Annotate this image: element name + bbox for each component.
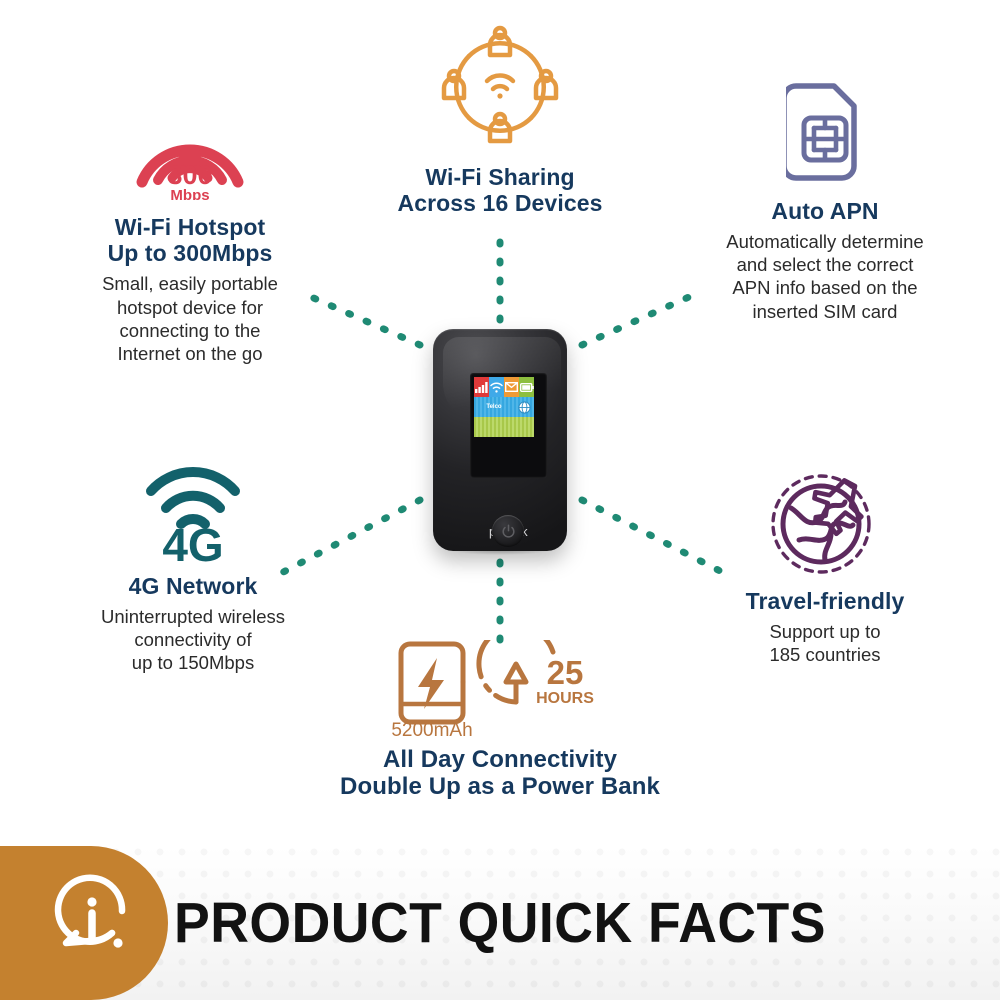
person-right bbox=[536, 71, 556, 98]
screen-info-row: Telco bbox=[474, 397, 534, 417]
hours-unit: HOURS bbox=[536, 690, 594, 707]
globe-tile bbox=[514, 397, 534, 417]
feature-desc-line2: hotspot device for bbox=[60, 296, 320, 319]
users-around-wifi-icon bbox=[435, 22, 565, 152]
footer-title: PRODUCT QUICK FACTS bbox=[30, 846, 970, 1000]
feature-wifi-sharing: Wi-Fi Sharing Across 16 Devices bbox=[370, 22, 630, 216]
feature-title-line1: Wi-Fi Hotspot bbox=[60, 214, 320, 240]
sim-card-icon bbox=[786, 82, 864, 186]
signal-bars-tile bbox=[474, 377, 489, 397]
feature-wifi-hotspot: 300 Mbps Wi-Fi Hotspot Up to 300Mbps Sma… bbox=[60, 92, 320, 365]
power-icon bbox=[501, 524, 516, 539]
feature-desc-line3: up to 150Mbps bbox=[58, 651, 328, 674]
person-bottom bbox=[490, 114, 510, 141]
feature-auto-apn: Auto APN Automatically determine and sel… bbox=[690, 82, 960, 323]
feature-travel-friendly: Travel-friendly Support up to 185 countr… bbox=[690, 468, 960, 666]
footer-badge bbox=[0, 846, 168, 1000]
wifi-tile bbox=[489, 377, 504, 397]
feature-desc-line1: Uninterrupted wireless bbox=[58, 605, 328, 628]
feature-title-line2: Double Up as a Power Bank bbox=[300, 773, 700, 800]
hours-value: 25 bbox=[547, 654, 584, 691]
feature-desc-line1: Automatically determine bbox=[690, 230, 960, 253]
envelope-icon bbox=[505, 382, 518, 392]
info-speech-bubble-icon bbox=[38, 869, 146, 977]
telco-label-tile: Telco bbox=[474, 397, 514, 417]
feature-desc-line2: 185 countries bbox=[690, 643, 960, 666]
feature-desc-line1: Support up to bbox=[690, 620, 960, 643]
device-body: Telco prolink bbox=[433, 329, 567, 551]
feature-desc-line1: Small, easily portable bbox=[60, 272, 320, 295]
badge-unit: Mbps bbox=[170, 187, 209, 200]
4g-signal-icon: 4G bbox=[141, 455, 245, 563]
footer-banner: PRODUCT QUICK FACTS bbox=[0, 846, 1000, 1000]
feature-title-line1: Travel-friendly bbox=[690, 588, 960, 614]
sms-envelope-tile bbox=[504, 377, 519, 397]
feature-title-line1: All Day Connectivity bbox=[300, 746, 700, 773]
device-screen-bezel: Telco prolink bbox=[470, 373, 547, 478]
infographic-canvas: 300 Mbps Wi-Fi Hotspot Up to 300Mbps Sma… bbox=[0, 0, 1000, 1000]
feature-title-line1: Wi-Fi Sharing bbox=[370, 164, 630, 190]
battery-tile bbox=[519, 377, 534, 397]
power-bank-and-hours-icons: 25 HOURS 5200mAh bbox=[385, 640, 615, 736]
feature-desc-line2: connectivity of bbox=[58, 628, 328, 651]
battery-icon bbox=[520, 383, 534, 392]
globe-airplane-icon bbox=[767, 468, 883, 578]
icon-label: 4G bbox=[162, 519, 223, 563]
globe-icon bbox=[518, 401, 531, 414]
feature-title-line1: 4G Network bbox=[58, 573, 328, 599]
feature-desc-line2: and select the correct bbox=[690, 253, 960, 276]
25-hours-clock-arrow-icon: 25 HOURS bbox=[479, 640, 594, 707]
feature-desc-line4: inserted SIM card bbox=[690, 300, 960, 323]
power-button[interactable] bbox=[492, 515, 524, 547]
feature-title-line2: Up to 300Mbps bbox=[60, 240, 320, 266]
screen-content-area bbox=[474, 417, 534, 437]
person-left bbox=[444, 71, 464, 98]
feature-power-bank: 25 HOURS 5200mAh All Day Connectivity Do… bbox=[300, 640, 700, 801]
connector-to-auto-apn bbox=[582, 292, 700, 345]
mobile-hotspot-device: Telco prolink bbox=[425, 325, 575, 555]
device-screen: Telco bbox=[474, 377, 534, 437]
capacity-label: 5200mAh bbox=[391, 720, 472, 736]
screen-status-tiles bbox=[474, 377, 534, 397]
badge-value: 300 bbox=[167, 160, 212, 190]
wifi-signal-waves-icon: 300 Mbps bbox=[128, 92, 252, 200]
feature-4g-network: 4G 4G Network Uninterrupted wireless con… bbox=[58, 455, 328, 675]
wifi-icon bbox=[490, 382, 503, 393]
feature-title-line1: Auto APN bbox=[690, 198, 960, 224]
feature-desc-line3: APN info based on the bbox=[690, 276, 960, 299]
signal-bars-icon bbox=[475, 382, 488, 393]
feature-title-line2: Across 16 Devices bbox=[370, 190, 630, 216]
power-bank-battery-icon bbox=[401, 644, 466, 722]
feature-desc-line4: Internet on the go bbox=[60, 342, 320, 365]
feature-desc-line3: connecting to the bbox=[60, 319, 320, 342]
